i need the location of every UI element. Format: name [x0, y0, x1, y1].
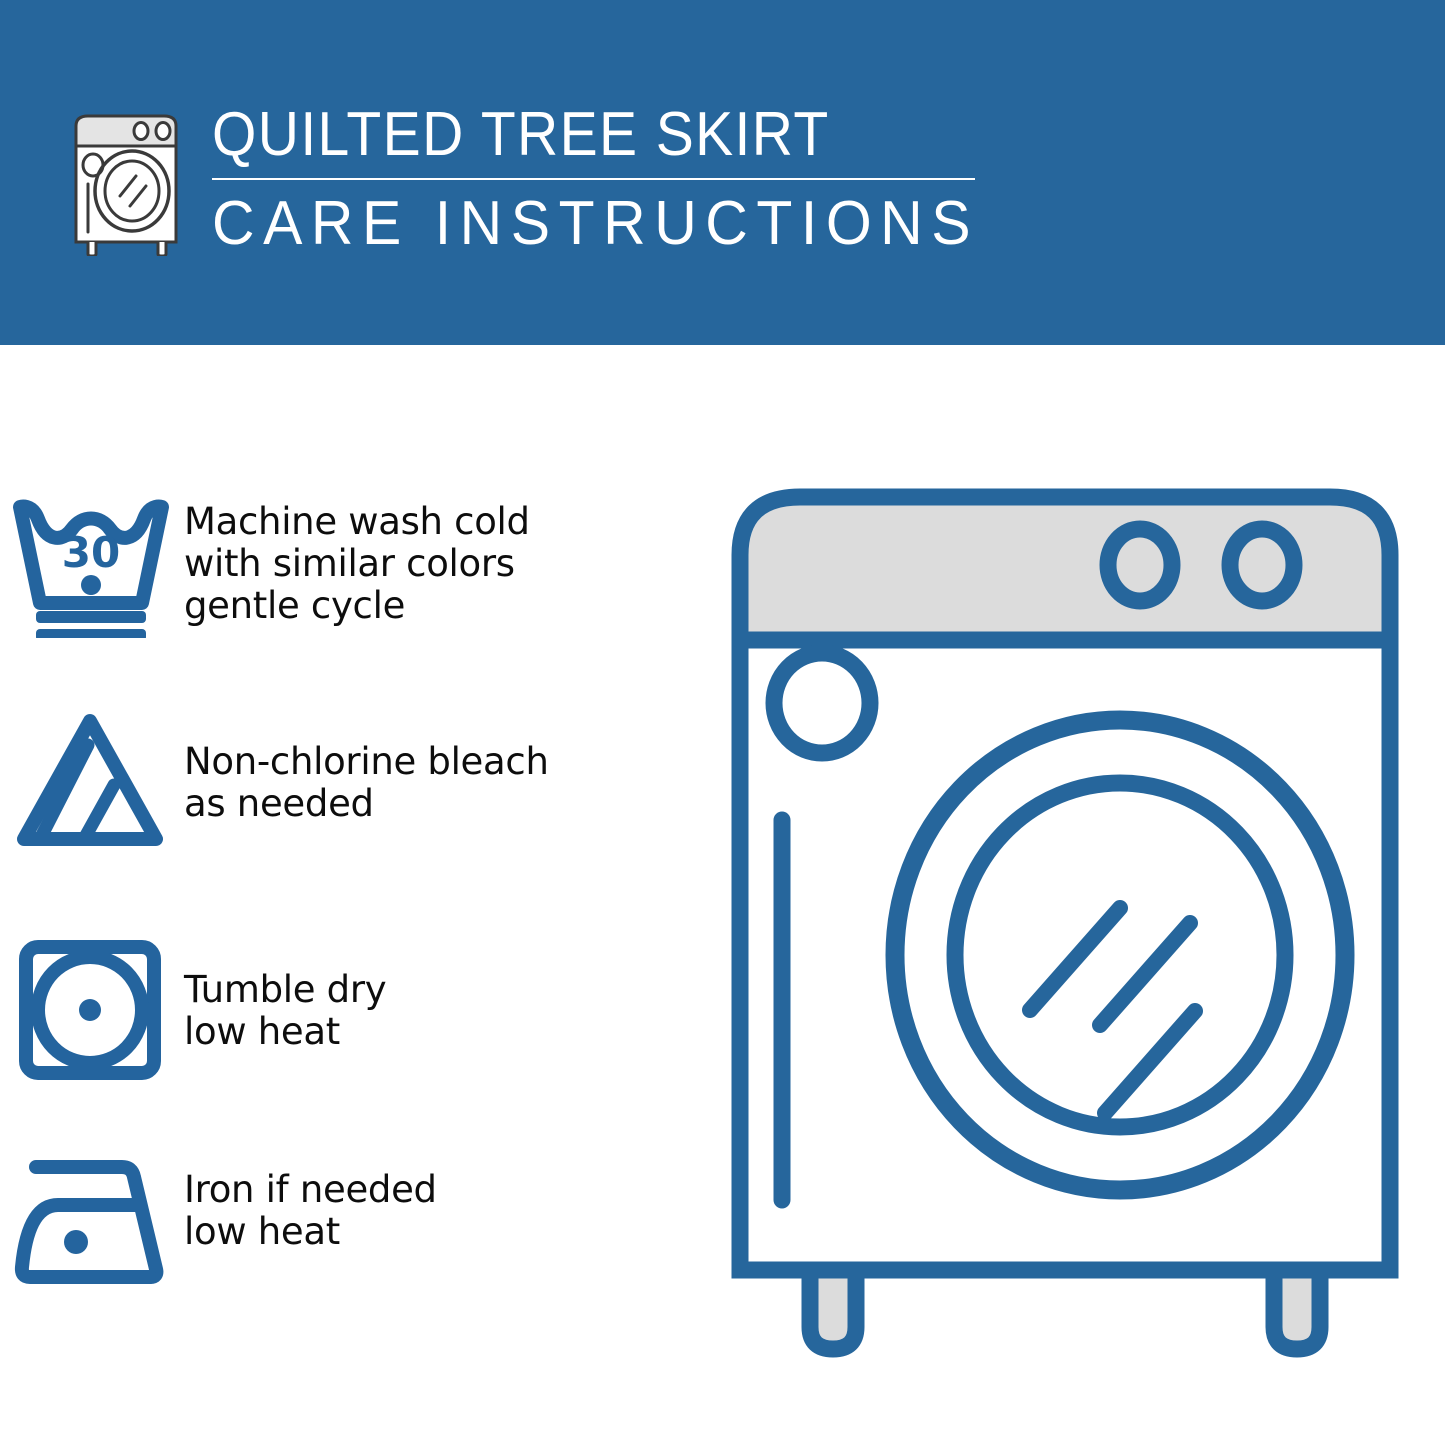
iron-icon — [0, 1145, 180, 1290]
care-row-tumble-dry: Tumble dry low heat — [0, 937, 690, 1082]
care-text-wash: Machine wash cold with similar colors ge… — [180, 493, 530, 627]
leg-right — [1274, 1270, 1320, 1349]
care-row-bleach: Non-chlorine bleach as needed — [0, 707, 690, 852]
knob-right — [1230, 529, 1294, 601]
leg-left — [810, 1270, 856, 1349]
care-text-tumble-dry: Tumble dry low heat — [180, 937, 386, 1053]
tumble-dry-icon — [0, 937, 180, 1082]
knob-left — [1108, 529, 1172, 601]
washing-machine-illustration — [700, 465, 1430, 1395]
header-title-block: QUILTED TREE SKIRT CARE INSTRUCTIONS — [212, 100, 1012, 260]
bleach-triangle-icon — [0, 707, 180, 852]
wash-tub-icon: 30 — [0, 493, 180, 638]
care-instructions-infographic: QUILTED TREE SKIRT CARE INSTRUCTIONS 30 — [0, 0, 1445, 1445]
door-inner-ring — [955, 783, 1285, 1127]
care-row-wash: 30 Machine wash cold with similar colors… — [0, 493, 690, 638]
page-subtitle: CARE INSTRUCTIONS — [212, 188, 972, 260]
care-text-iron: Iron if needed low heat — [180, 1145, 437, 1253]
title-divider — [212, 178, 975, 180]
detergent-dispenser-circle — [774, 653, 870, 753]
washing-machine-icon — [62, 104, 192, 256]
care-instruction-list: 30 Machine wash cold with similar colors… — [0, 345, 700, 1445]
care-text-bleach: Non-chlorine bleach as needed — [180, 707, 549, 825]
header-banner: QUILTED TREE SKIRT CARE INSTRUCTIONS — [0, 0, 1445, 345]
page-title: QUILTED TREE SKIRT — [212, 100, 948, 170]
wash-temp-label: 30 — [62, 528, 120, 577]
care-row-iron: Iron if needed low heat — [0, 1145, 690, 1290]
